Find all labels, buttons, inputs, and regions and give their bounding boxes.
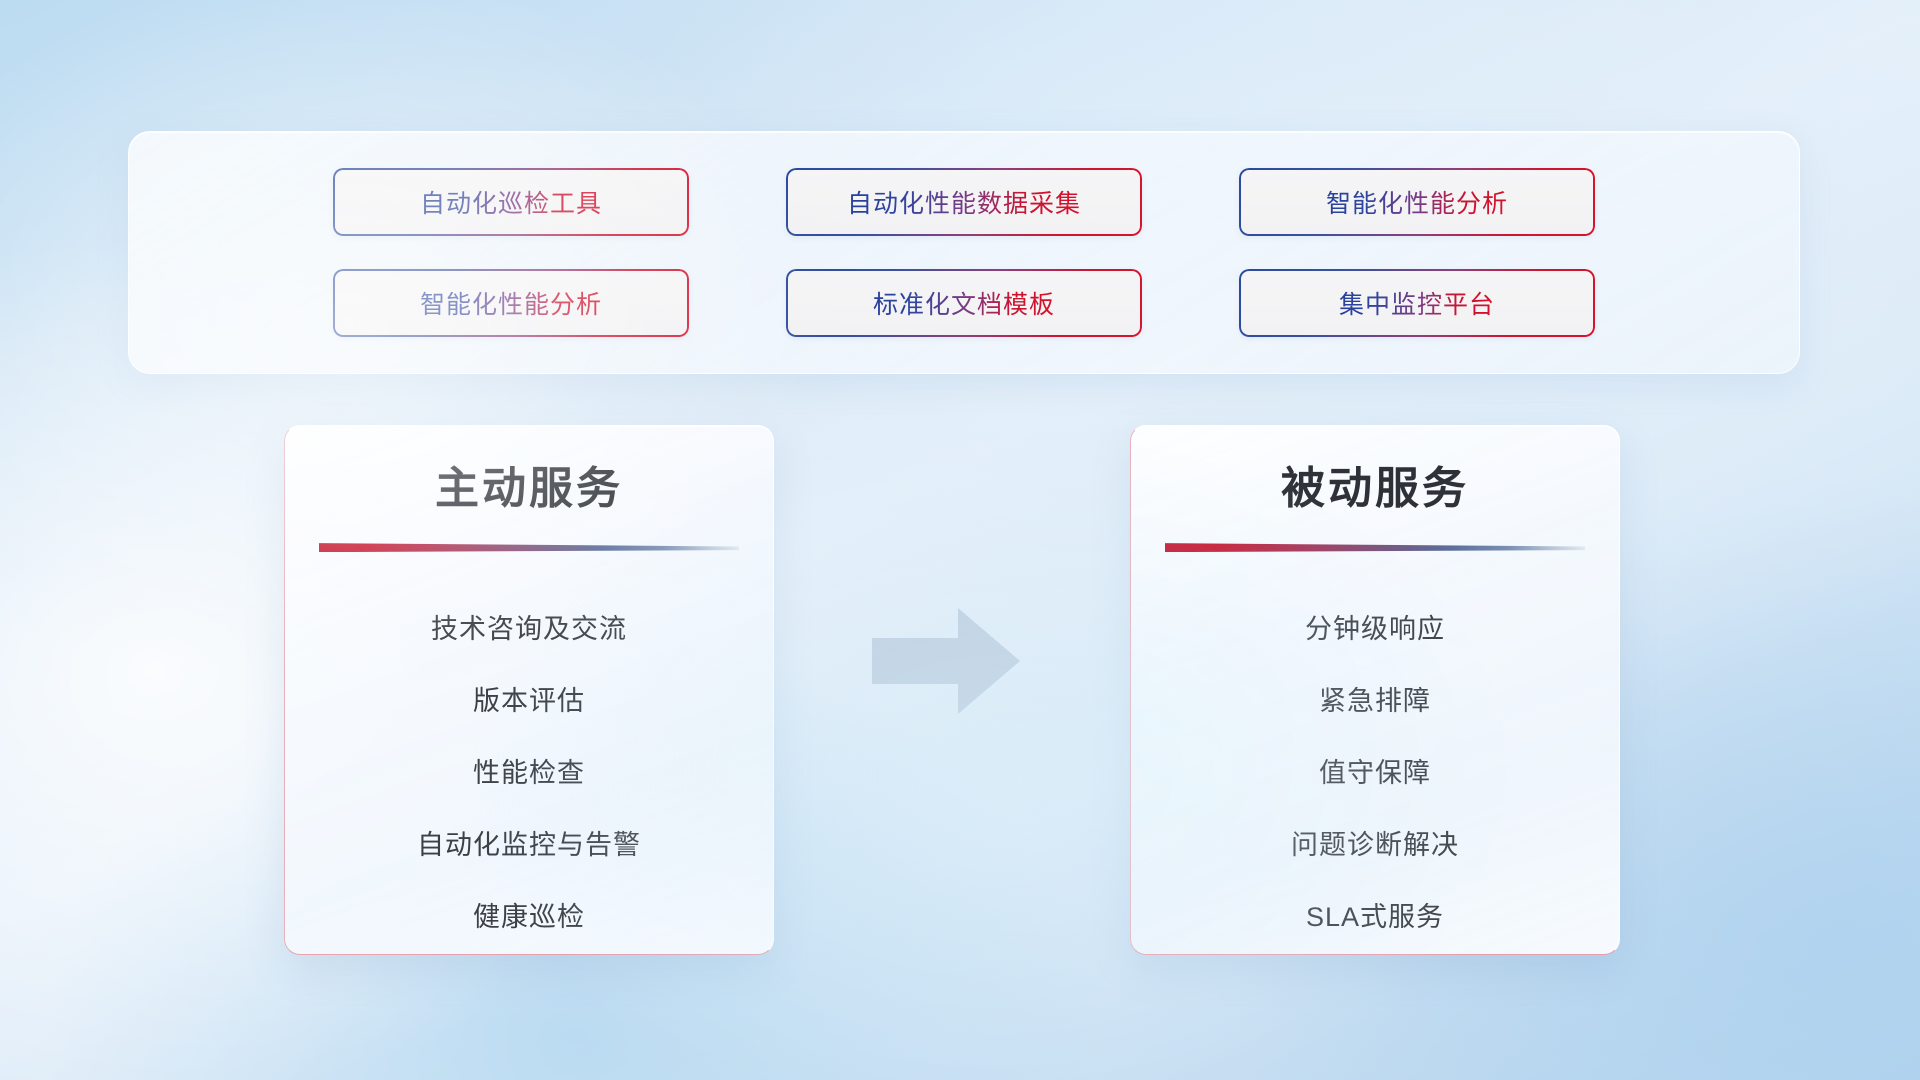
chip-label: 智能化性能分析 <box>420 285 602 321</box>
service-item-list: 分钟级响应 紧急排障 值守保障 问题诊断解决 SLA式服务 <box>1165 593 1585 953</box>
list-item: 版本评估 <box>319 665 739 737</box>
list-item: 自动化监控与告警 <box>319 809 739 881</box>
gradient-divider <box>1165 543 1585 552</box>
card-divider-wrap <box>319 531 739 565</box>
service-card-active: 主动服务 技术咨询及交流 版本评估 性能检查 自动化监控与告警 健康巡检 <box>284 425 774 955</box>
capability-chip-standardized-doc-template[interactable]: 标准化文档模板 <box>786 269 1142 337</box>
chip-label: 智能化性能分析 <box>1326 184 1508 220</box>
list-item: 技术咨询及交流 <box>319 593 739 665</box>
arrow-right-icon <box>872 608 1020 714</box>
capability-chip-automated-inspection-tool[interactable]: 自动化巡检工具 <box>333 168 689 236</box>
list-item: 紧急排障 <box>1165 665 1585 737</box>
capability-chip-intelligent-performance-analysis-1[interactable]: 智能化性能分析 <box>1239 168 1595 236</box>
list-item: 问题诊断解决 <box>1165 809 1585 881</box>
service-item-list: 技术咨询及交流 版本评估 性能检查 自动化监控与告警 健康巡检 <box>319 593 739 953</box>
chip-label: 自动化巡检工具 <box>420 184 602 220</box>
list-item: 性能检查 <box>319 737 739 809</box>
capability-chip-grid: 自动化巡检工具 自动化性能数据采集 智能化性能分析 智能化性能分析 标准化文档模… <box>333 168 1595 337</box>
service-card-passive: 被动服务 分钟级响应 紧急排障 值守保障 问题诊断解决 SLA式服务 <box>1130 425 1620 955</box>
slide-canvas: 自动化巡检工具 自动化性能数据采集 智能化性能分析 智能化性能分析 标准化文档模… <box>0 0 1920 1080</box>
card-divider-wrap <box>1165 531 1585 565</box>
list-item: 分钟级响应 <box>1165 593 1585 665</box>
capability-chip-centralized-monitoring-platform[interactable]: 集中监控平台 <box>1239 269 1595 337</box>
card-title: 主动服务 <box>319 464 739 515</box>
chip-label: 标准化文档模板 <box>873 285 1055 321</box>
list-item: SLA式服务 <box>1165 881 1585 953</box>
card-title: 被动服务 <box>1165 464 1585 515</box>
capability-panel: 自动化巡检工具 自动化性能数据采集 智能化性能分析 智能化性能分析 标准化文档模… <box>128 131 1800 374</box>
gradient-divider <box>319 543 739 552</box>
chip-label: 集中监控平台 <box>1339 285 1495 321</box>
capability-chip-intelligent-performance-analysis-2[interactable]: 智能化性能分析 <box>333 269 689 337</box>
list-item: 值守保障 <box>1165 737 1585 809</box>
list-item: 健康巡检 <box>319 881 739 953</box>
chip-label: 自动化性能数据采集 <box>847 184 1081 220</box>
capability-chip-automated-performance-data-collection[interactable]: 自动化性能数据采集 <box>786 168 1142 236</box>
